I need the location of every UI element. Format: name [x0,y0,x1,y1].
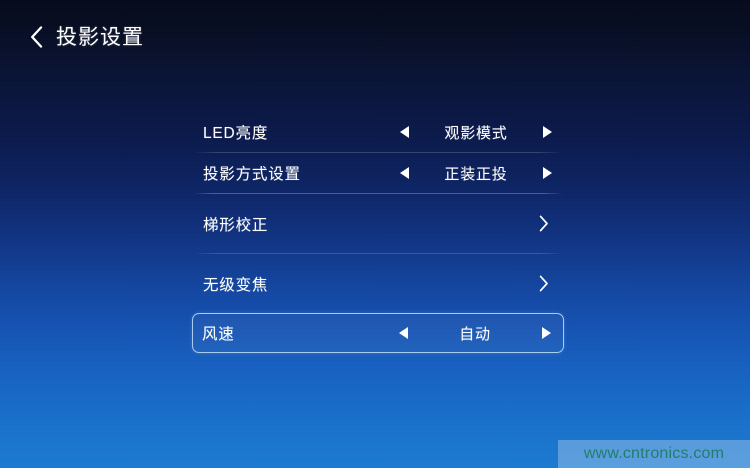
triangle-right-icon[interactable] [542,327,551,339]
stepper-control: 自动 [399,323,563,344]
menu-item-label: 梯形校正 [203,213,268,235]
stepper-control: 观影模式 [400,122,564,143]
menu-item-control: 正装正投 [400,163,564,184]
triangle-right-icon[interactable] [543,126,552,138]
menu-item-led-brightness[interactable]: LED亮度 观影模式 [192,112,564,152]
chevron-left-icon[interactable] [30,26,43,48]
menu-item-control [539,275,564,292]
projector-settings-screen: 投影设置 LED亮度 观影模式 投影方式设置 正装正投 [0,0,750,468]
menu-item-control: 自动 [399,323,563,344]
menu-item-fan-speed[interactable]: 风速 自动 [192,313,564,353]
stepper-control: 正装正投 [400,163,564,184]
triangle-right-icon[interactable] [543,167,552,179]
chevron-right-icon[interactable] [539,275,549,292]
watermark: www.cntronics.com [558,440,750,468]
watermark-text: www.cntronics.com [584,445,724,463]
page-title: 投影设置 [56,27,144,48]
menu-item-value: 自动 [408,323,542,344]
menu-item-value: 正装正投 [409,163,543,184]
header: 投影设置 [30,26,144,48]
triangle-left-icon[interactable] [399,327,408,339]
menu-item-projection-mode[interactable]: 投影方式设置 正装正投 [192,153,564,193]
menu-item-control: 观影模式 [400,122,564,143]
menu-item-label: 投影方式设置 [203,162,301,184]
menu-item-label: 无级变焦 [203,273,268,295]
menu-item-label: 风速 [202,322,235,344]
triangle-left-icon[interactable] [400,126,409,138]
menu-item-stepless-zoom[interactable]: 无级变焦 [192,254,564,313]
menu-item-keystone-correction[interactable]: 梯形校正 [192,194,564,253]
settings-menu: LED亮度 观影模式 投影方式设置 正装正投 [192,112,564,353]
chevron-right-icon[interactable] [539,215,549,232]
menu-item-label: LED亮度 [203,121,268,143]
triangle-left-icon[interactable] [400,167,409,179]
menu-item-value: 观影模式 [409,122,543,143]
menu-item-control [539,215,564,232]
